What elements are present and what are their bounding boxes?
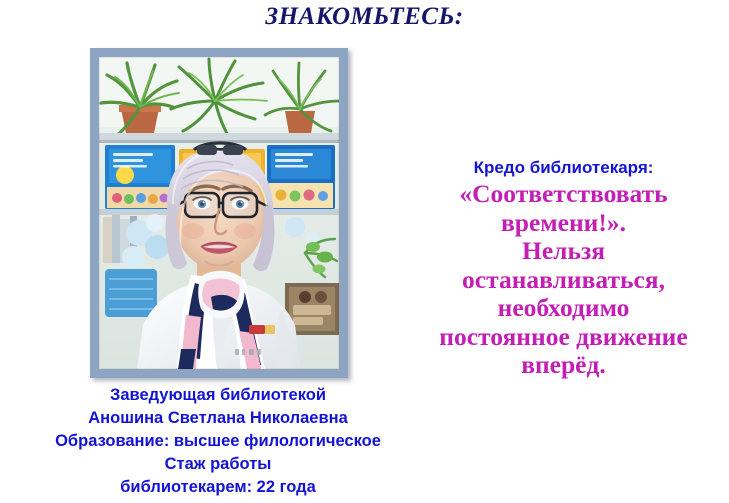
credo-line-2: времени!». xyxy=(398,209,729,238)
credo-line-1: «Соответствовать xyxy=(398,180,729,209)
credo-line-6: постоянное движение xyxy=(398,323,729,352)
caption-line-4: Стаж работы xyxy=(18,453,418,476)
portrait-photo xyxy=(99,57,339,369)
portrait-caption: Заведующая библиотекой Аношина Светлана … xyxy=(18,384,418,499)
page-title: ЗНАКОМЬТЕСЬ: xyxy=(0,3,729,31)
credo-line-3: Нельзя xyxy=(398,237,729,266)
portrait-photo-frame xyxy=(90,48,348,378)
credo-quote: «Соответствовать времени!». Нельзя остан… xyxy=(398,180,729,380)
portrait-illustration xyxy=(99,57,339,369)
slide-canvas: ЗНАКОМЬТЕСЬ: xyxy=(0,0,729,503)
credo-block: Кредо библиотекаря: «Соответствовать вре… xyxy=(398,157,729,380)
caption-line-1: Заведующая библиотекой xyxy=(18,384,418,407)
credo-line-4: останавливаться, xyxy=(398,266,729,295)
caption-line-5: библиотекарем: 22 года xyxy=(18,476,418,499)
credo-line-7: вперёд. xyxy=(398,351,729,380)
credo-line-5: необходимо xyxy=(398,294,729,323)
caption-line-3: Образование: высшее филологическое xyxy=(18,430,418,453)
caption-line-2: Аношина Светлана Николаевна xyxy=(18,407,418,430)
credo-heading: Кредо библиотекаря: xyxy=(398,157,729,179)
